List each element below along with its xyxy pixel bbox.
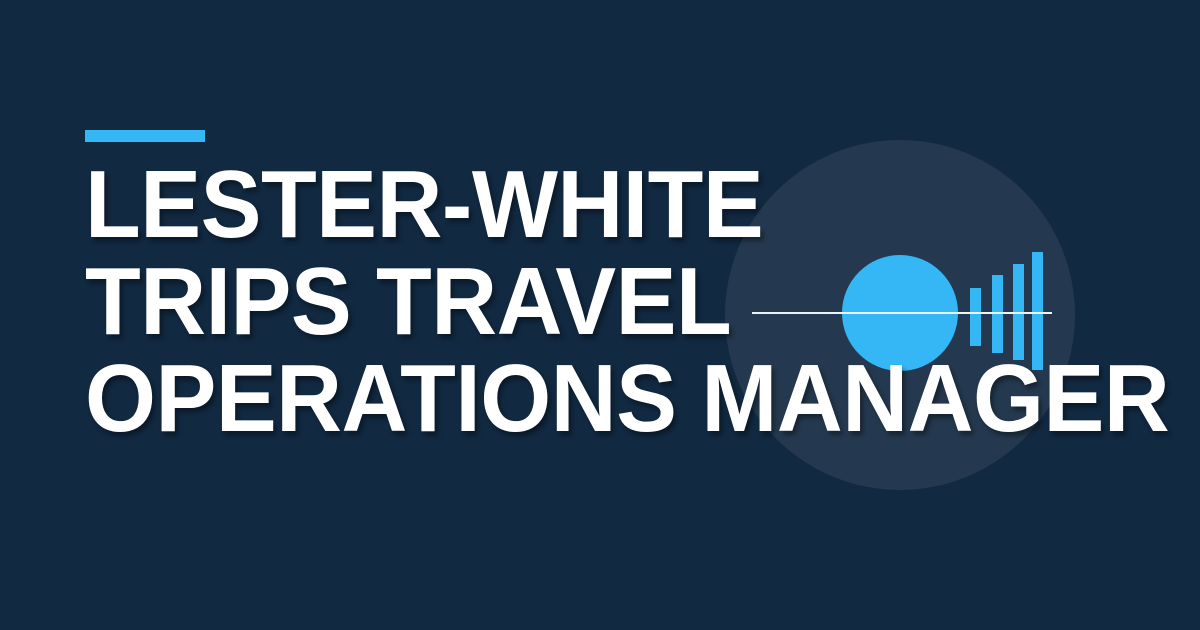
banner-canvas: LESTER-WHITE TRIPS TRAVEL OPERATIONS MAN… bbox=[0, 0, 1200, 630]
accent-rule bbox=[85, 130, 205, 142]
headline-line-1: LESTER-WHITE bbox=[85, 156, 1121, 253]
banner-content: LESTER-WHITE TRIPS TRAVEL OPERATIONS MAN… bbox=[85, 0, 1185, 630]
page-title: LESTER-WHITE TRIPS TRAVEL OPERATIONS MAN… bbox=[85, 156, 1175, 447]
headline-line-2: TRIPS TRAVEL bbox=[85, 253, 1121, 350]
headline-line-3: OPERATIONS MANAGER bbox=[85, 350, 1121, 447]
